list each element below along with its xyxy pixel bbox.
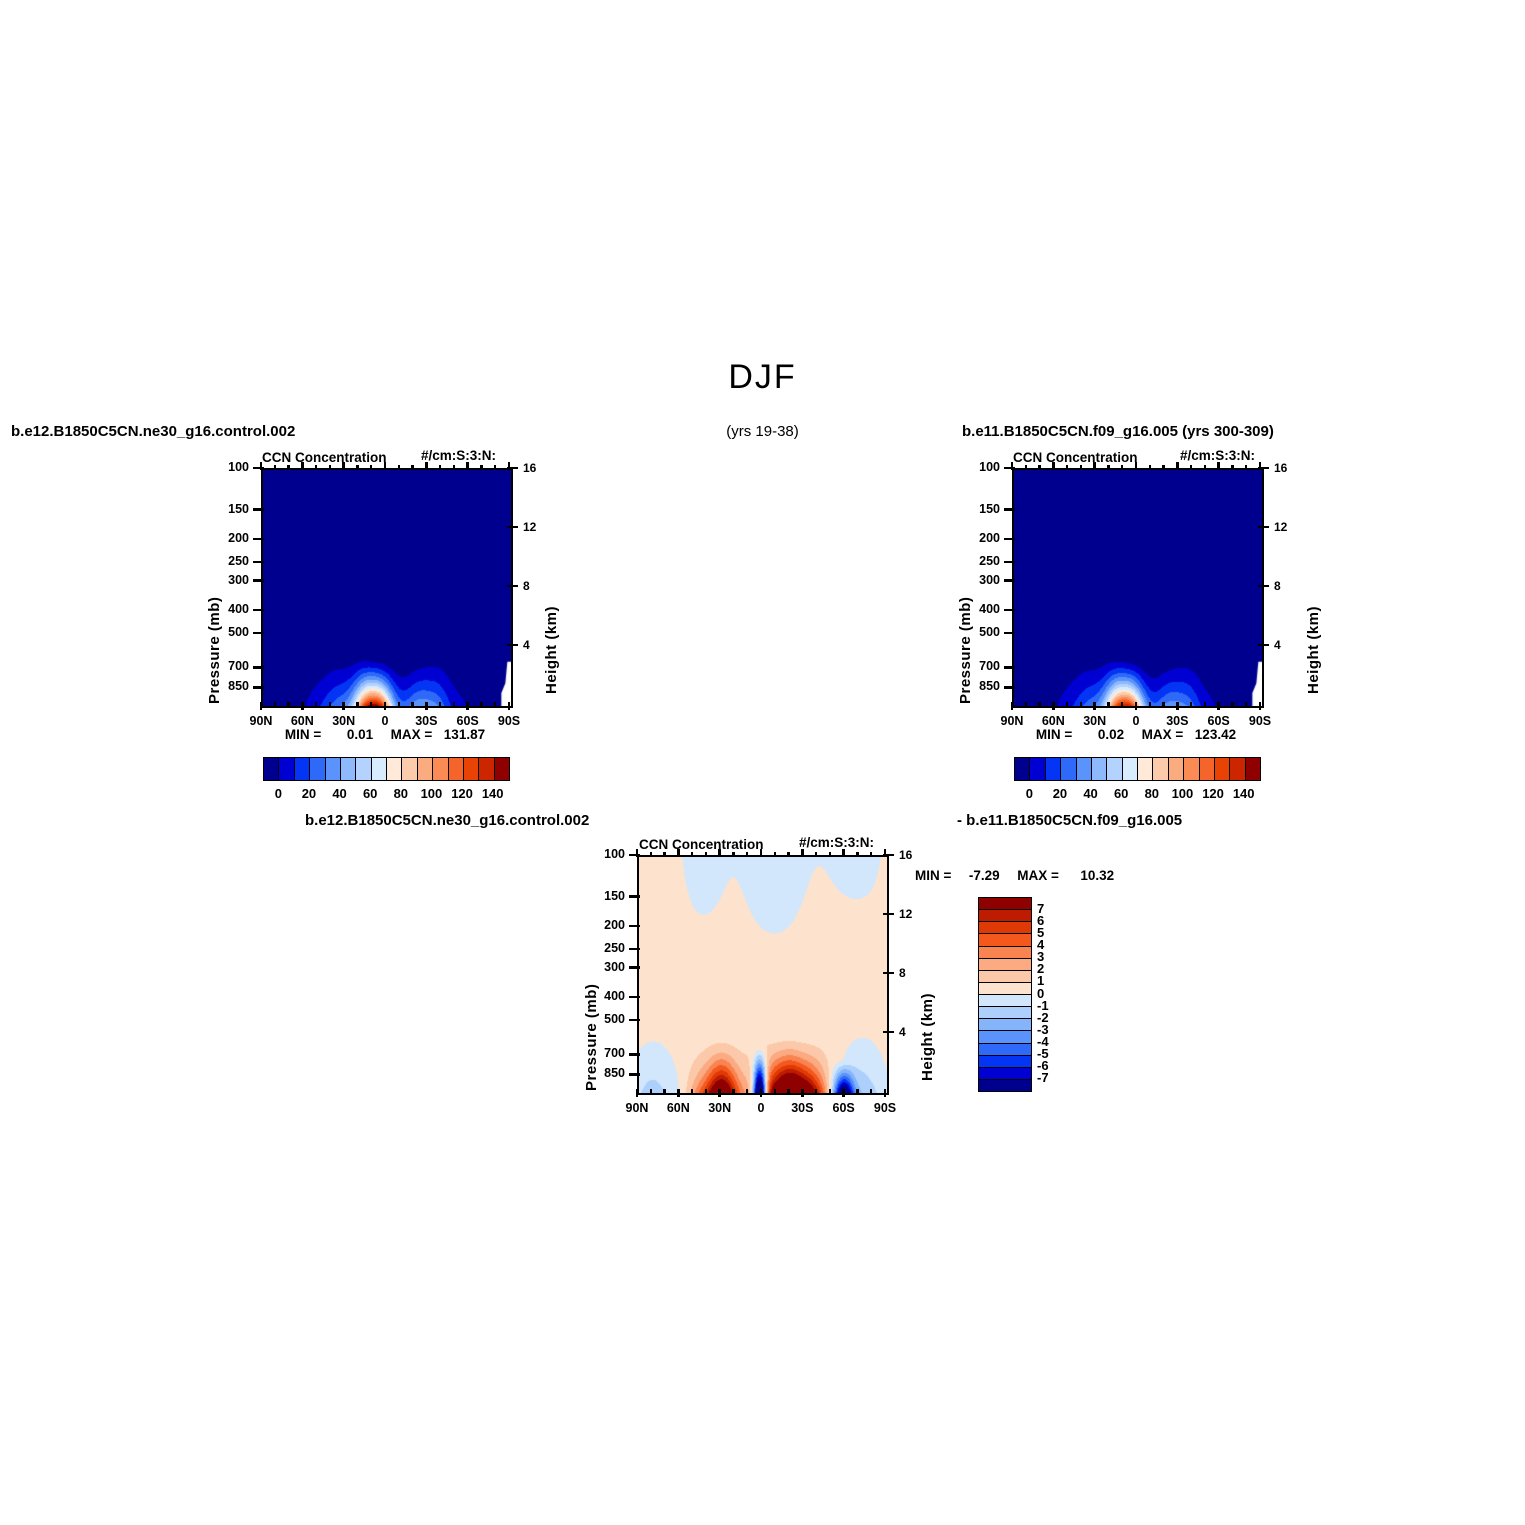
colorbar-ticklabel: -7 xyxy=(1037,1070,1049,1085)
panel-difference-colorbar-labels: 76543210-1-2-3-4-5-6-7 xyxy=(0,0,1525,1525)
